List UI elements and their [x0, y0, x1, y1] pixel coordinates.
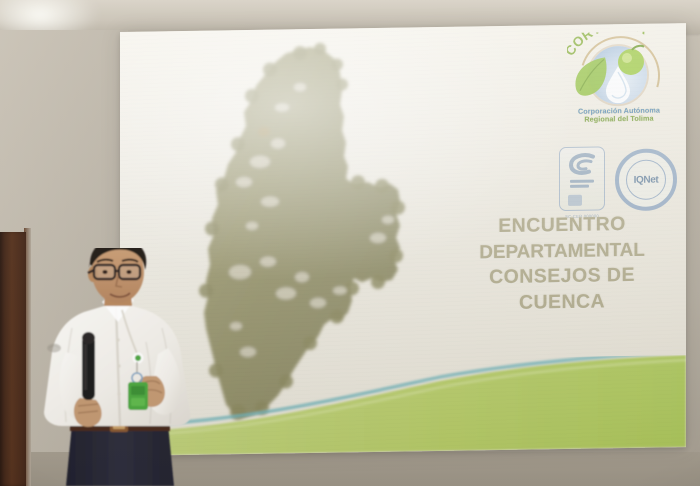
slide-title: ENCUENTRO DEPARTAMENTAL CONSEJOS DE CUEN… [450, 211, 674, 318]
slide-title-line-2: DEPARTAMENTAL [450, 237, 674, 266]
iqnet-inner-ring: IQNet [626, 159, 666, 200]
slide-title-line-3: CONSEJOS DE [450, 262, 674, 291]
icontec-swirl-icon [567, 153, 597, 177]
icontec-bars [570, 180, 594, 191]
iqnet-certification-badge: IQNet [615, 148, 677, 211]
iqnet-label: IQNet [634, 174, 659, 185]
slide-title-line-1: ENCUENTRO [450, 211, 674, 240]
certification-badges: SC-CER 000000 IQNet [558, 145, 678, 221]
presentation-photo: CORTOLIMA [0, 0, 700, 486]
presenter [18, 248, 238, 486]
cortolima-logo: CORTOLIMA [560, 31, 678, 124]
icontec-foot-icon [568, 195, 582, 206]
icontec-certification-badge: SC-CER 000000 [559, 146, 605, 211]
water-drop-icon [603, 64, 633, 104]
logo-mark: CORTOLIMA [567, 31, 671, 107]
slide-title-line-4: CUENCA [450, 288, 674, 317]
